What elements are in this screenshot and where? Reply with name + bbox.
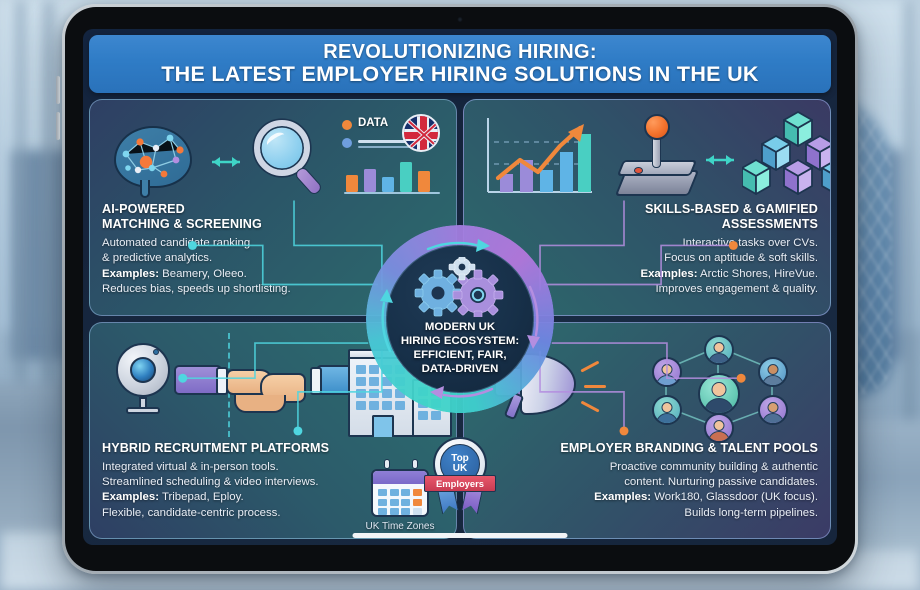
avatar (758, 357, 788, 387)
tablet-screen: REVOLUTIONIZING HIRING: THE LATEST EMPLO… (83, 29, 837, 545)
avatar (758, 395, 788, 425)
branding-examples-label: Examples: (594, 491, 651, 503)
talent-pool-network-icon (630, 335, 808, 439)
avatar-primary (698, 373, 740, 415)
branding-body-line1: Proactive community building & authentic (610, 461, 818, 473)
skills-body-line2: Focus on aptitude & soft skills. (664, 252, 818, 264)
home-indicator-bar[interactable] (353, 533, 568, 538)
infographic-grid: DATA (89, 99, 831, 539)
tablet-device: REVOLUTIONIZING HIRING: THE LATEST EMPLO… (62, 4, 858, 574)
exchange-arrow-icon (204, 152, 248, 172)
megaphone-icon (492, 345, 612, 437)
avatar (652, 395, 682, 425)
data-legend-label: DATA (358, 117, 388, 129)
skills-body-line1: Interactive tasks over CVs. (683, 237, 818, 249)
volume-down-button[interactable] (56, 112, 60, 140)
skills-title-line1: SKILLS-BASED & GAMIFIED (645, 202, 818, 216)
growth-chart-icon (480, 112, 600, 204)
panel-ai-powered-matching[interactable]: DATA (89, 99, 457, 316)
page-title-line2: THE LATEST EMPLOYER HIRING SOLUTIONS IN … (161, 63, 759, 86)
page-title-line1: REVOLUTIONIZING HIRING: (323, 42, 597, 64)
avatar (652, 357, 682, 387)
ai-title-line2: MATCHING & SCREENING (102, 217, 262, 231)
ai-body-line1: Automated candidate ranking (102, 237, 250, 249)
hybrid-title-line1: HYBRID RECRUITMENT PLATFORMS (102, 441, 329, 455)
cube-stack-icon (742, 110, 831, 202)
award-badge-icon: Top UK Employers (417, 431, 503, 527)
art-skills-based (476, 108, 818, 202)
skills-title-line2: ASSESSMENTS (722, 217, 818, 231)
ai-body-line4: Reduces bias, speeds up shortlisting. (102, 283, 291, 295)
avatar (704, 413, 734, 443)
panel-hybrid-recruitment[interactable]: HYBRID RECRUITMENT PLATFORMS Integrated … (89, 322, 457, 539)
hybrid-examples-label: Examples: (102, 491, 159, 503)
caption-skills-based: SKILLS-BASED & GAMIFIED ASSESSMENTS Inte… (476, 202, 818, 297)
skills-examples-label: Examples: (641, 268, 698, 280)
art-employer-branding (476, 331, 818, 441)
brain-network-icon (106, 112, 202, 200)
skills-examples-value: Arctic Shores, HireVue. (700, 268, 818, 280)
caption-employer-branding: EMPLOYER BRANDING & TALENT POOLS Proacti… (476, 441, 818, 521)
page-title-banner: REVOLUTIONIZING HIRING: THE LATEST EMPLO… (89, 35, 831, 93)
window-mullion-right (905, 0, 914, 470)
ai-examples-label: Examples: (102, 268, 159, 280)
handshake-icon (174, 361, 364, 423)
front-camera-icon (458, 17, 463, 22)
joystick-icon (612, 114, 706, 202)
ai-examples-value: Beamery, Oleeo. (162, 268, 247, 280)
hybrid-examples-value: Tribepad, Eploy. (162, 491, 244, 503)
uk-flag-icon (402, 114, 440, 152)
caption-hybrid-recruitment: HYBRID RECRUITMENT PLATFORMS Integrated … (102, 441, 444, 521)
badge-ribbon-label: Employers (424, 475, 496, 492)
branding-title-line1: EMPLOYER BRANDING & TALENT POOLS (560, 441, 818, 455)
hybrid-body-line1: Integrated virtual & in-person tools. (102, 461, 279, 473)
panel-skills-based-assessments[interactable]: SKILLS-BASED & GAMIFIED ASSESSMENTS Inte… (463, 99, 831, 316)
art-hybrid-recruitment (102, 331, 444, 441)
caption-ai-powered: AI-POWERED MATCHING & SCREENING Automate… (102, 202, 444, 297)
ai-title-line1: AI-POWERED (102, 202, 185, 216)
branding-examples-value: Work180, Glassdoor (UK focus). (654, 491, 818, 503)
screenshot-scene: REVOLUTIONIZING HIRING: THE LATEST EMPLO… (0, 0, 920, 590)
art-ai-powered: DATA (102, 108, 444, 202)
branding-body-line2: content. Nurturing passive candidates. (624, 476, 818, 488)
ai-body-line2: & predictive analytics. (102, 252, 212, 264)
avatar (704, 335, 734, 365)
bar-chart-icon: DATA (342, 116, 457, 202)
magnifying-glass-icon (248, 114, 340, 202)
tablet-bezel: REVOLUTIONIZING HIRING: THE LATEST EMPLO… (65, 7, 855, 571)
office-building-icon (348, 341, 457, 437)
skills-body-line4: Improves engagement & quality. (655, 283, 818, 295)
exchange-arrow-icon (698, 150, 742, 170)
hybrid-body-line2: Streamlined scheduling & video interview… (102, 476, 319, 488)
branding-body-line4: Builds long-term pipelines. (684, 507, 818, 519)
badge-line2: UK (453, 464, 467, 474)
panel-employer-branding[interactable]: EMPLOYER BRANDING & TALENT POOLS Proacti… (463, 322, 831, 539)
hybrid-body-line4: Flexible, candidate-centric process. (102, 507, 281, 519)
volume-up-button[interactable] (56, 76, 60, 104)
